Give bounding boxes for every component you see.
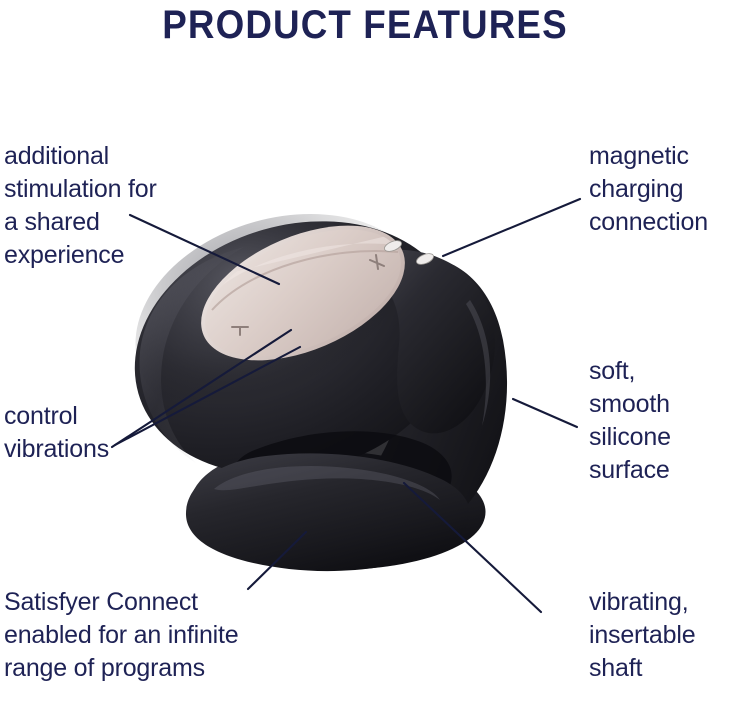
callout-control-vibrations: control vibrations — [4, 400, 214, 466]
leader-magnetic — [443, 199, 580, 256]
callout-magnetic-charging: magnetic charging connection — [589, 140, 730, 239]
callout-satisfyer-connect: Satisfyer Connect enabled for an infinit… — [4, 586, 324, 685]
callout-additional-stimulation: additional stimulation for a shared expe… — [4, 140, 234, 272]
product-features-page: PRODUCT FEATURES — [0, 0, 730, 702]
callout-soft-silicone: soft, smooth silicone surface — [589, 355, 729, 487]
leader-soft — [513, 399, 577, 427]
callout-vibrating-shaft: vibrating, insertable shaft — [589, 586, 730, 685]
